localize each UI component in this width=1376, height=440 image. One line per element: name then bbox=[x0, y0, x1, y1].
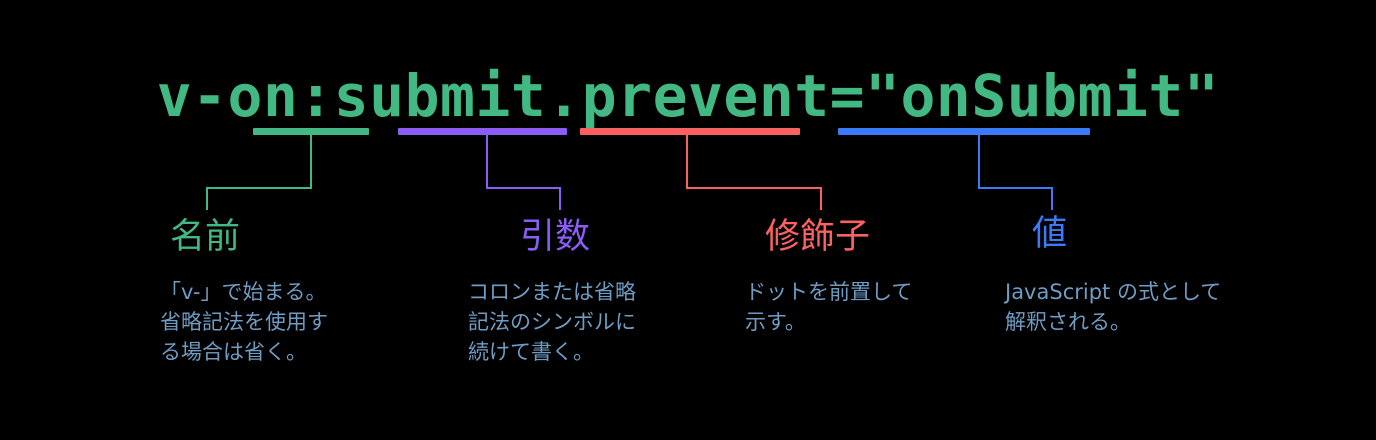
part-label-modifier: 修飾子 bbox=[765, 220, 870, 255]
part-label-argument: 引数 bbox=[520, 220, 590, 255]
underline-bar-modifier bbox=[580, 128, 800, 135]
underline-bar-argument bbox=[398, 128, 567, 135]
connector-modifier bbox=[687, 135, 821, 210]
part-label-name: 名前 bbox=[170, 220, 240, 255]
part-description-modifier: ドットを前置して 示す。 bbox=[745, 278, 912, 338]
diagram-canvas: v-on:submit.prevent="onSubmit" 名前 引数 修飾子… bbox=[0, 0, 1376, 440]
connector-argument bbox=[487, 135, 560, 210]
part-description-name: 「v-」で始まる。 省略記法を使用す る場合は省く。 bbox=[160, 278, 328, 367]
underline-bar-value bbox=[838, 128, 1090, 135]
part-description-argument: コロンまたは省略 記法のシンボルに 続けて書く。 bbox=[468, 278, 636, 367]
part-description-value: JavaScript の式として 解釈される。 bbox=[1005, 278, 1221, 338]
connector-value bbox=[979, 135, 1052, 210]
part-label-value: 値 bbox=[1032, 217, 1067, 252]
underline-bar-name bbox=[253, 128, 369, 135]
vue-directive-expression: v-on:submit.prevent="onSubmit" bbox=[0, 62, 1376, 130]
connector-name bbox=[207, 135, 311, 210]
